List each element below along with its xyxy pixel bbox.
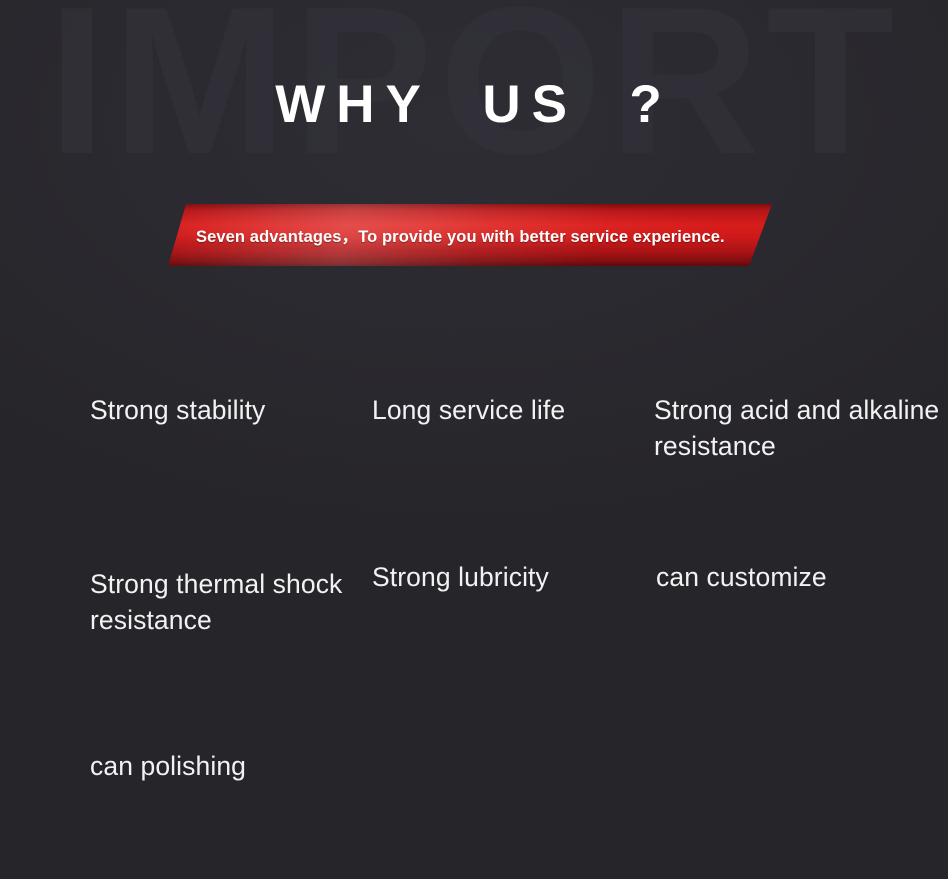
feature-item: can polishing (90, 748, 370, 784)
feature-item: Strong acid and alkaline resistance (654, 392, 948, 464)
why-us-section: IMPORT WHY US ? Seven advantages，To prov… (0, 0, 948, 879)
feature-item: Strong lubricity (372, 559, 642, 595)
subtitle-banner: Seven advantages，To provide you with bet… (168, 204, 772, 266)
feature-item: Long service life (372, 392, 642, 428)
feature-item: can customize (656, 559, 948, 595)
feature-list: Strong stability Long service life Stron… (0, 330, 948, 850)
page-title: WHY US ? (0, 78, 948, 131)
feature-item: Strong thermal shock resistance (90, 566, 370, 638)
banner-label: Seven advantages，To provide you with bet… (196, 204, 754, 266)
feature-item: Strong stability (90, 392, 370, 428)
